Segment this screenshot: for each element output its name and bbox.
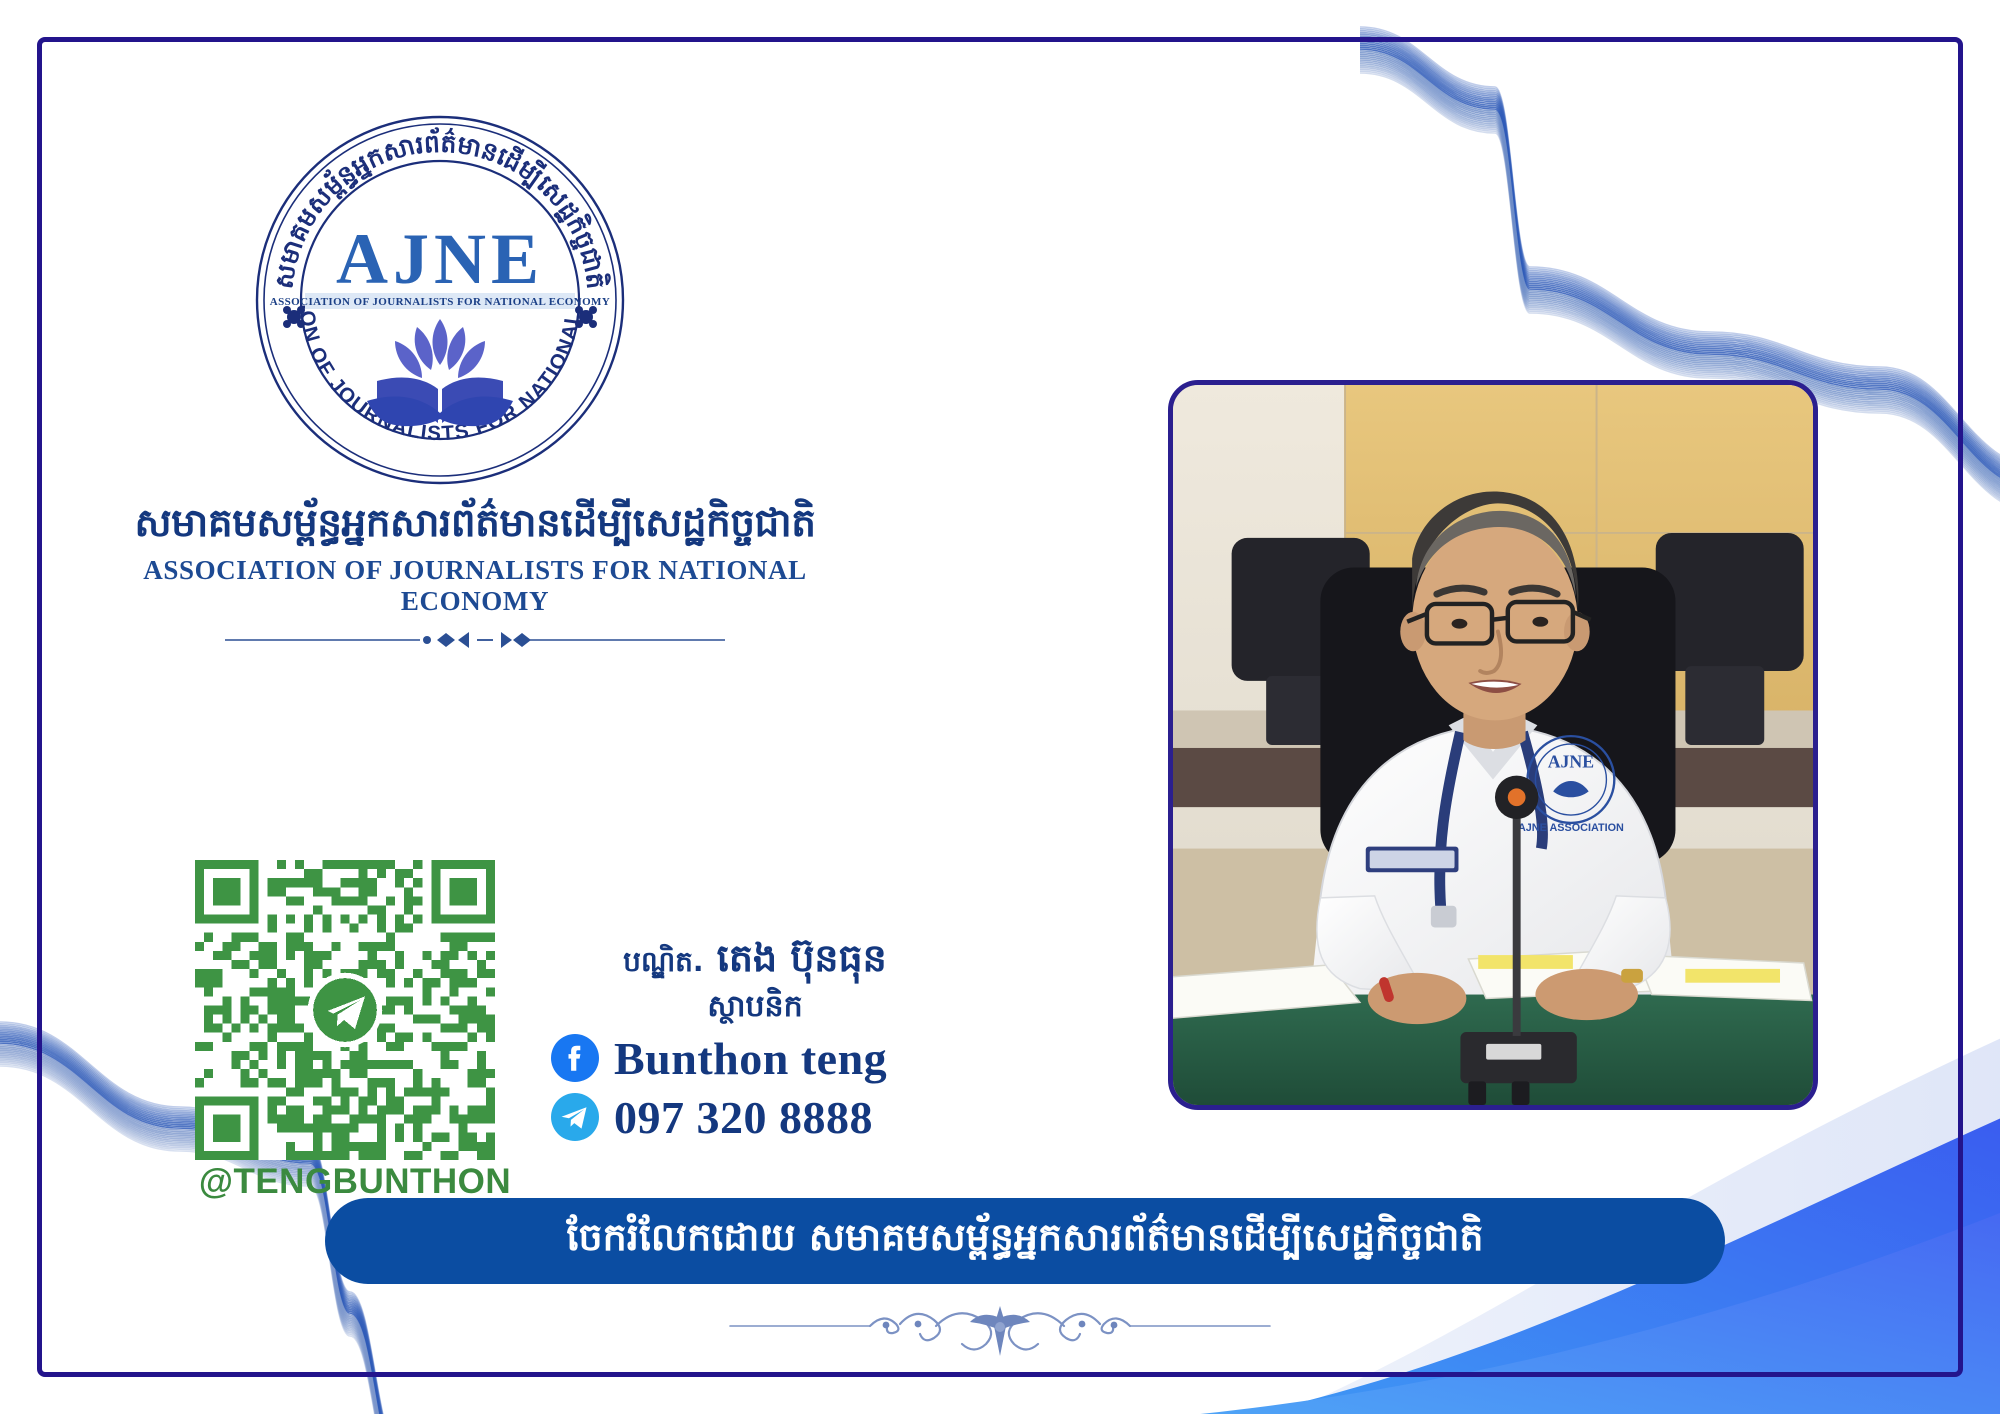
qr-code-image[interactable] [195, 860, 495, 1160]
speaker-photo: AJNE AJNE ASSOCIATION [1168, 380, 1818, 1110]
ajne-seal-icon: សមាគមសម្ព័ន្ធអ្នកសារព័ត៌មានដើម្បីសេដ្ឋកិ… [245, 105, 635, 495]
contact-name-khmer: តេង ប៊ុនធុន [717, 936, 887, 980]
share-banner-text: ចែករំលែកដោយ សមាគមសម្ព័ន្ធអ្នកសារព័ត៌មានដ… [566, 1213, 1483, 1269]
speaker-photo-image: AJNE AJNE ASSOCIATION [1173, 385, 1813, 1105]
org-name-khmer: សមាគមសម្ព័ន្ធអ្នកសារព័ត៌មានដើម្បីសេដ្ឋកិ… [70, 500, 880, 549]
qr-handle-label: @TENGBUNTHON [195, 1162, 515, 1202]
organization-name-block: សមាគមសម្ព័ន្ធអ្នកសារព័ត៌មានដើម្បីសេដ្ឋកិ… [70, 500, 880, 656]
ornamental-rule [215, 629, 735, 651]
facebook-icon[interactable] [550, 1033, 600, 1083]
telegram-icon[interactable] [550, 1092, 600, 1142]
ajne-logo: សមាគមសម្ព័ន្ធអ្នកសារព័ត៌មានដើម្បីសេដ្ឋកិ… [245, 105, 635, 495]
bottom-flourish-ornament [720, 1300, 1280, 1360]
contact-role-khmer: ស្ថាបនិក [540, 987, 970, 1026]
seal-center-subtext: ASSOCIATION OF JOURNALISTS FOR NATIONAL … [270, 296, 610, 308]
telegram-qr-block[interactable]: @TENGBUNTHON [195, 860, 515, 1202]
facebook-row[interactable]: Bunthon teng [540, 1032, 970, 1085]
poster-canvas: សមាគមសម្ព័ន្ធអ្នកសារព័ត៌មានដើម្បីសេដ្ឋកិ… [0, 0, 2000, 1414]
svg-text:AJNE: AJNE [1548, 752, 1594, 772]
contact-title-khmer: បណ្ឌិត. [623, 945, 703, 978]
telegram-row[interactable]: 097 320 8888 [540, 1091, 970, 1144]
contact-name-line: បណ្ឌិត. តេង ប៊ុនធុន [540, 935, 970, 983]
facebook-name[interactable]: Bunthon teng [614, 1032, 887, 1085]
contact-block: បណ្ឌិត. តេង ប៊ុនធុន ស្ថាបនិក Bunthon ten… [540, 935, 970, 1144]
telegram-number[interactable]: 097 320 8888 [614, 1091, 873, 1144]
seal-center-wordmark: AJNE [336, 219, 544, 299]
left-content-column: សមាគមសម្ព័ន្ធអ្នកសារព័ត៌មានដើម្បីសេដ្ឋកិ… [70, 70, 900, 1170]
shirt-badge-label: AJNE ASSOCIATION [1518, 822, 1624, 834]
share-banner: ចែករំលែកដោយ សមាគមសម្ព័ន្ធអ្នកសារព័ត៌មានដ… [325, 1198, 1725, 1284]
org-name-english: ASSOCIATION OF JOURNALISTS FOR NATIONAL … [70, 555, 880, 617]
